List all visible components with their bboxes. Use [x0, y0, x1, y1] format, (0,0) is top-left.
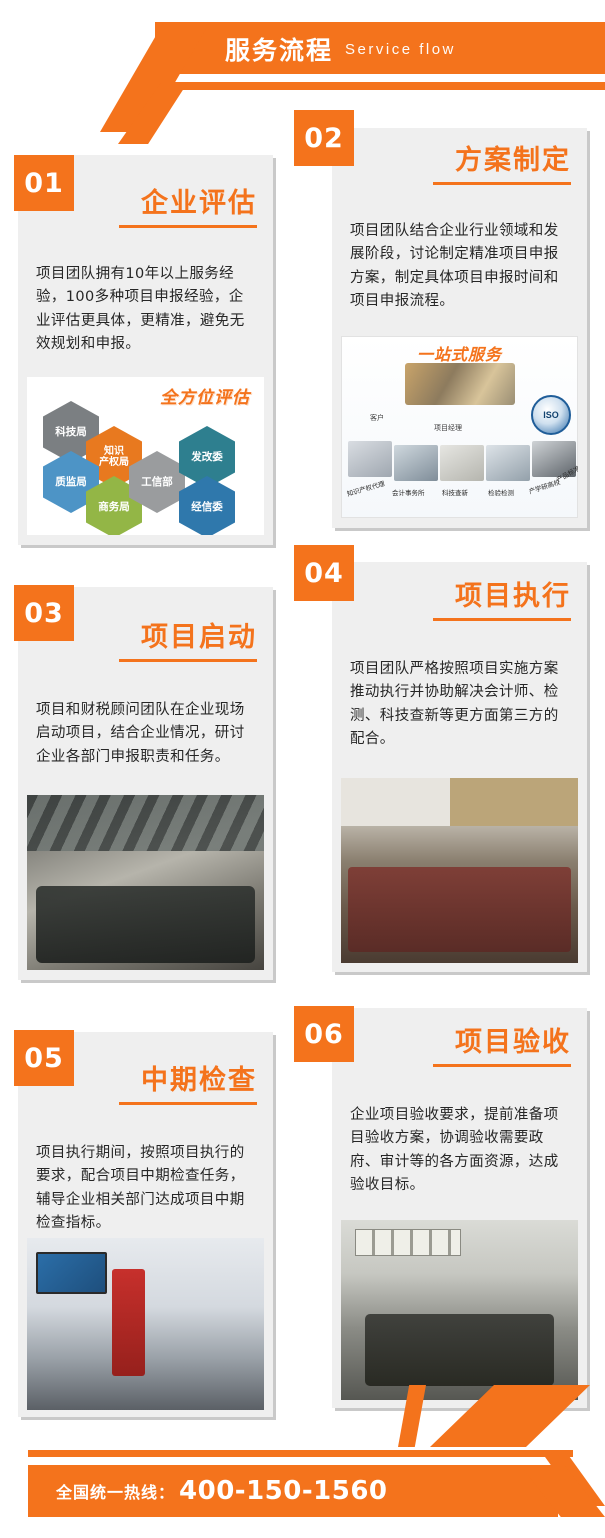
onestop-caption-accounting: 会计事务所 — [392, 487, 425, 497]
hotline-number[interactable]: 400-150-1560 — [179, 1476, 388, 1506]
onestop-label-pm: 项目经理 — [434, 423, 462, 433]
header-underline-bar — [160, 82, 605, 90]
onestop-node-ip — [348, 441, 392, 477]
card-title: 项目启动 — [141, 615, 273, 654]
footer-hotline-group: 全国统一热线： 400-150-1560 — [56, 1465, 388, 1517]
hex-diagram-title: 全方位评估 — [160, 383, 250, 408]
card-title-rule — [119, 225, 257, 228]
step-number-badge-02: 02 — [294, 110, 354, 166]
card-body-text: 项目执行期间，按照项目执行的要求，配合项目中期检查任务，辅导企业相关部门达成项目… — [36, 1142, 257, 1236]
card-media-photo-04 — [341, 778, 578, 963]
card-media-photo-05 — [27, 1238, 264, 1410]
card-title-group: 项目启动 — [119, 615, 273, 662]
card-media-onestop-diagram: 一站式服务 客户 项目经理 ISO 知识产权代理 会计事务所 科技查新 检验检测… — [341, 336, 578, 518]
step-card-02[interactable]: 方案制定 项目团队结合企业行业领域和发展阶段，讨论制定精准项目申报方案，制定具体… — [332, 128, 587, 528]
footer-thin-bar — [28, 1450, 573, 1457]
card-title-group: 项目验收 — [433, 1020, 587, 1067]
card-title-group: 项目执行 — [433, 574, 587, 621]
photo-boardroom — [341, 1220, 578, 1400]
photo-conference-room — [27, 795, 264, 970]
card-title-group: 企业评估 — [119, 181, 273, 228]
onestop-node-test — [486, 445, 530, 481]
step-number-badge-05: 05 — [14, 1030, 74, 1086]
page-header: 服务流程 Service flow — [0, 0, 605, 110]
step-card-06[interactable]: 项目验收 企业项目验收要求，提前准备项目验收方案，协调验收需要政府、审计等的各方… — [332, 1008, 587, 1408]
card-title-group: 中期检查 — [119, 1058, 273, 1105]
card-title-rule — [433, 618, 571, 621]
onestop-center-photo — [405, 363, 515, 405]
step-number-badge-06: 06 — [294, 1006, 354, 1062]
step-card-03[interactable]: 项目启动 项目和财税顾问团队在企业现场启动项目，结合企业情况，研讨企业各部门申报… — [18, 587, 273, 980]
card-body-text: 项目和财税顾问团队在企业现场启动项目，结合企业情况，研讨企业各部门申报职责和任务… — [36, 699, 257, 769]
card-title: 中期检查 — [141, 1058, 273, 1097]
step-card-04[interactable]: 项目执行 项目团队严格按照项目实施方案推动执行并协助解决会计师、检测、科技查新等… — [332, 562, 587, 972]
page-footer: 全国统一热线： 400-150-1560 — [0, 1430, 605, 1538]
iso-badge-icon: ISO — [531, 395, 571, 435]
step-number-badge-01: 01 — [14, 155, 74, 211]
card-title-group: 方案制定 — [433, 138, 587, 185]
onestop-title: 一站式服务 — [417, 341, 502, 365]
card-media-photo-03 — [27, 795, 264, 970]
hex-node-jingxinwei: 经信委 — [179, 476, 235, 535]
step-number-badge-03: 03 — [14, 585, 74, 641]
onestop-diagram: 一站式服务 客户 项目经理 ISO 知识产权代理 会计事务所 科技查新 检验检测… — [341, 336, 578, 518]
hotline-label: 全国统一热线： — [56, 1479, 175, 1503]
card-title-rule — [119, 659, 257, 662]
card-body-text: 项目团队严格按照项目实施方案推动执行并协助解决会计师、检测、科技查新等更方面第三… — [350, 658, 571, 752]
page-title: 服务流程 — [225, 31, 333, 67]
page-subtitle: Service flow — [345, 41, 456, 58]
hex-diagram: 全方位评估 科技局 知识产权局 质监局 商务局 工信部 发改委 经信委 — [27, 377, 264, 535]
card-title: 方案制定 — [455, 138, 587, 177]
card-body-text: 项目团队拥有10年以上服务经验，100多种项目申报经验，企业评估更具体，更精准，… — [36, 263, 257, 357]
card-title: 企业评估 — [141, 181, 273, 220]
service-flow-infographic: 服务流程 Service flow 企业评估 项目团队拥有10年以上服务经验，1… — [0, 0, 605, 1538]
card-title-rule — [433, 1064, 571, 1067]
onestop-caption-sci: 科技查新 — [442, 487, 468, 497]
card-title: 项目执行 — [455, 574, 587, 613]
onestop-node-accounting — [394, 445, 438, 481]
card-body-text: 项目团队结合企业行业领域和发展阶段，讨论制定精准项目申报方案，制定具体项目申报时… — [350, 220, 571, 314]
onestop-label-customer: 客户 — [370, 413, 384, 423]
onestop-caption-ip: 知识产权代理 — [345, 478, 385, 498]
onestop-caption-test: 检验检测 — [488, 487, 514, 497]
photo-meeting-laptops — [341, 778, 578, 963]
card-title-rule — [119, 1102, 257, 1105]
card-title-rule — [433, 182, 571, 185]
card-media-hex-diagram: 全方位评估 科技局 知识产权局 质监局 商务局 工信部 发改委 经信委 — [27, 377, 264, 535]
onestop-node-sci — [440, 445, 484, 481]
card-media-photo-06 — [341, 1220, 578, 1400]
step-number-badge-04: 04 — [294, 545, 354, 601]
header-title-group: 服务流程 Service flow — [225, 26, 456, 72]
step-card-05[interactable]: 中期检查 项目执行期间，按照项目执行的要求，配合项目中期检查任务，辅导企业相关部… — [18, 1032, 273, 1417]
card-title: 项目验收 — [455, 1020, 587, 1059]
photo-showroom-visit — [27, 1238, 264, 1410]
step-card-01[interactable]: 企业评估 项目团队拥有10年以上服务经验，100多种项目申报经验，企业评估更具体… — [18, 155, 273, 545]
card-body-text: 企业项目验收要求，提前准备项目验收方案，协调验收需要政府、审计等的各方面资源，达… — [350, 1104, 571, 1198]
